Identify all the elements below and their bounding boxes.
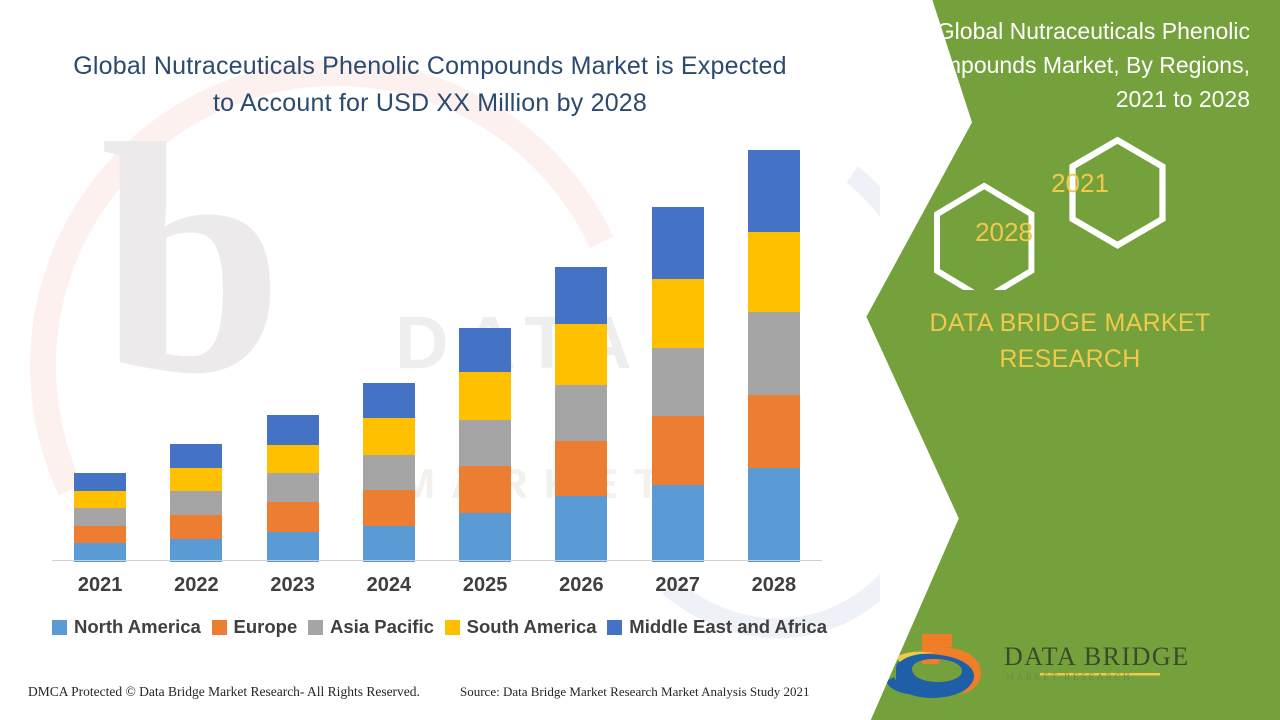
year-hexagons: 2021 2028: [840, 130, 1280, 290]
bar-segment-asia-pacific[interactable]: [459, 420, 511, 466]
bar-segment-europe[interactable]: [170, 515, 222, 539]
bar-segment-south-america[interactable]: [748, 232, 800, 312]
bar-segment-south-america[interactable]: [459, 372, 511, 419]
bar-segment-north-america[interactable]: [459, 513, 511, 562]
bar-segment-asia-pacific[interactable]: [555, 385, 607, 442]
legend-item-middle-east-and-africa[interactable]: Middle East and Africa: [607, 616, 827, 638]
bar-column-2028[interactable]: [748, 150, 800, 562]
legend-swatch-icon: [52, 620, 67, 635]
branding-title: Global Nutraceuticals Phenolic Compounds…: [890, 14, 1250, 116]
branding-panel: Global Nutraceuticals Phenolic Compounds…: [840, 0, 1280, 720]
x-axis-line: [52, 560, 822, 561]
legend-label: Middle East and Africa: [629, 616, 827, 638]
bar-segment-north-america[interactable]: [267, 532, 319, 562]
bar-segment-asia-pacific[interactable]: [748, 312, 800, 395]
bar-column-2022[interactable]: [170, 444, 222, 562]
bar-segment-asia-pacific[interactable]: [74, 508, 126, 526]
bar-segment-middle-east-and-africa[interactable]: [267, 415, 319, 445]
page-title: Global Nutraceuticals Phenolic Compounds…: [60, 48, 800, 122]
bar-segment-europe[interactable]: [748, 395, 800, 467]
legend-item-asia-pacific[interactable]: Asia Pacific: [308, 616, 434, 638]
legend-swatch-icon: [212, 620, 227, 635]
legend-swatch-icon: [445, 620, 460, 635]
x-axis-label-2026: 2026: [533, 574, 629, 597]
x-axis-label-2027: 2027: [630, 574, 726, 597]
bar-segment-south-america[interactable]: [74, 491, 126, 509]
bar-segment-south-america[interactable]: [267, 445, 319, 473]
x-axis-label-2024: 2024: [341, 574, 437, 597]
bar-segment-middle-east-and-africa[interactable]: [170, 444, 222, 468]
hexagon-label-2021: 2021: [1020, 168, 1140, 199]
bar-segment-middle-east-and-africa[interactable]: [459, 328, 511, 373]
legend-item-south-america[interactable]: South America: [445, 616, 597, 638]
x-axis-label-2022: 2022: [148, 574, 244, 597]
logo-wordmark: DATA BRIDGE: [1004, 642, 1190, 672]
bar-segment-north-america[interactable]: [170, 539, 222, 562]
stacked-bar-chart: [52, 150, 822, 562]
footer-dmca-notice: DMCA Protected © Data Bridge Market Rese…: [28, 684, 420, 700]
bar-segment-north-america[interactable]: [652, 485, 704, 562]
x-axis-label-2028: 2028: [726, 574, 822, 597]
bar-segment-europe[interactable]: [652, 416, 704, 485]
x-axis-label-2021: 2021: [52, 574, 148, 597]
bar-segment-middle-east-and-africa[interactable]: [652, 207, 704, 279]
bar-segment-europe[interactable]: [459, 466, 511, 513]
bar-column-2024[interactable]: [363, 383, 415, 562]
bar-segment-middle-east-and-africa[interactable]: [363, 383, 415, 418]
x-axis-labels: 20212022202320242025202620272028: [52, 570, 822, 604]
bar-segment-middle-east-and-africa[interactable]: [74, 473, 126, 491]
bar-segment-europe[interactable]: [555, 441, 607, 496]
bar-segment-north-america[interactable]: [363, 526, 415, 562]
brand-name: DATA BRIDGE MARKET RESEARCH: [880, 305, 1260, 377]
legend-label: Asia Pacific: [330, 616, 434, 638]
legend-label: Europe: [234, 616, 298, 638]
footer-source-note: Source: Data Bridge Market Research Mark…: [460, 684, 809, 700]
bar-column-2025[interactable]: [459, 328, 511, 562]
bar-column-2023[interactable]: [267, 415, 319, 562]
hexagon-outlines-svg: [840, 130, 1280, 290]
legend-item-europe[interactable]: Europe: [212, 616, 298, 638]
bar-segment-asia-pacific[interactable]: [363, 455, 415, 490]
bar-segment-europe[interactable]: [267, 502, 319, 533]
bar-column-2026[interactable]: [555, 267, 607, 562]
legend-swatch-icon: [308, 620, 323, 635]
bar-column-2021[interactable]: [74, 473, 126, 562]
bar-segment-south-america[interactable]: [170, 468, 222, 491]
hexagon-label-2028: 2028: [944, 217, 1064, 248]
bar-segment-asia-pacific[interactable]: [170, 491, 222, 515]
x-axis-label-2023: 2023: [245, 574, 341, 597]
logo-tagline: MARKET RESEARCH: [1006, 672, 1132, 682]
bar-segment-middle-east-and-africa[interactable]: [748, 150, 800, 232]
bar-segment-south-america[interactable]: [363, 418, 415, 454]
bar-segment-north-america[interactable]: [555, 496, 607, 562]
legend-label: North America: [74, 616, 201, 638]
bar-segment-europe[interactable]: [74, 526, 126, 544]
chart-panel: Global Nutraceuticals Phenolic Compounds…: [0, 0, 880, 720]
bar-segment-south-america[interactable]: [652, 279, 704, 348]
legend-swatch-icon: [607, 620, 622, 635]
bar-segment-north-america[interactable]: [748, 468, 800, 562]
legend-item-north-america[interactable]: North America: [52, 616, 201, 638]
legend-label: South America: [467, 616, 597, 638]
bar-segment-south-america[interactable]: [555, 324, 607, 384]
bar-segment-europe[interactable]: [363, 490, 415, 526]
chart-legend: North AmericaEuropeAsia PacificSouth Ame…: [52, 616, 827, 638]
x-axis-label-2025: 2025: [437, 574, 533, 597]
bar-column-2027[interactable]: [652, 207, 704, 562]
bar-segment-asia-pacific[interactable]: [267, 473, 319, 501]
bar-segment-middle-east-and-africa[interactable]: [555, 267, 607, 324]
bar-segment-asia-pacific[interactable]: [652, 348, 704, 416]
